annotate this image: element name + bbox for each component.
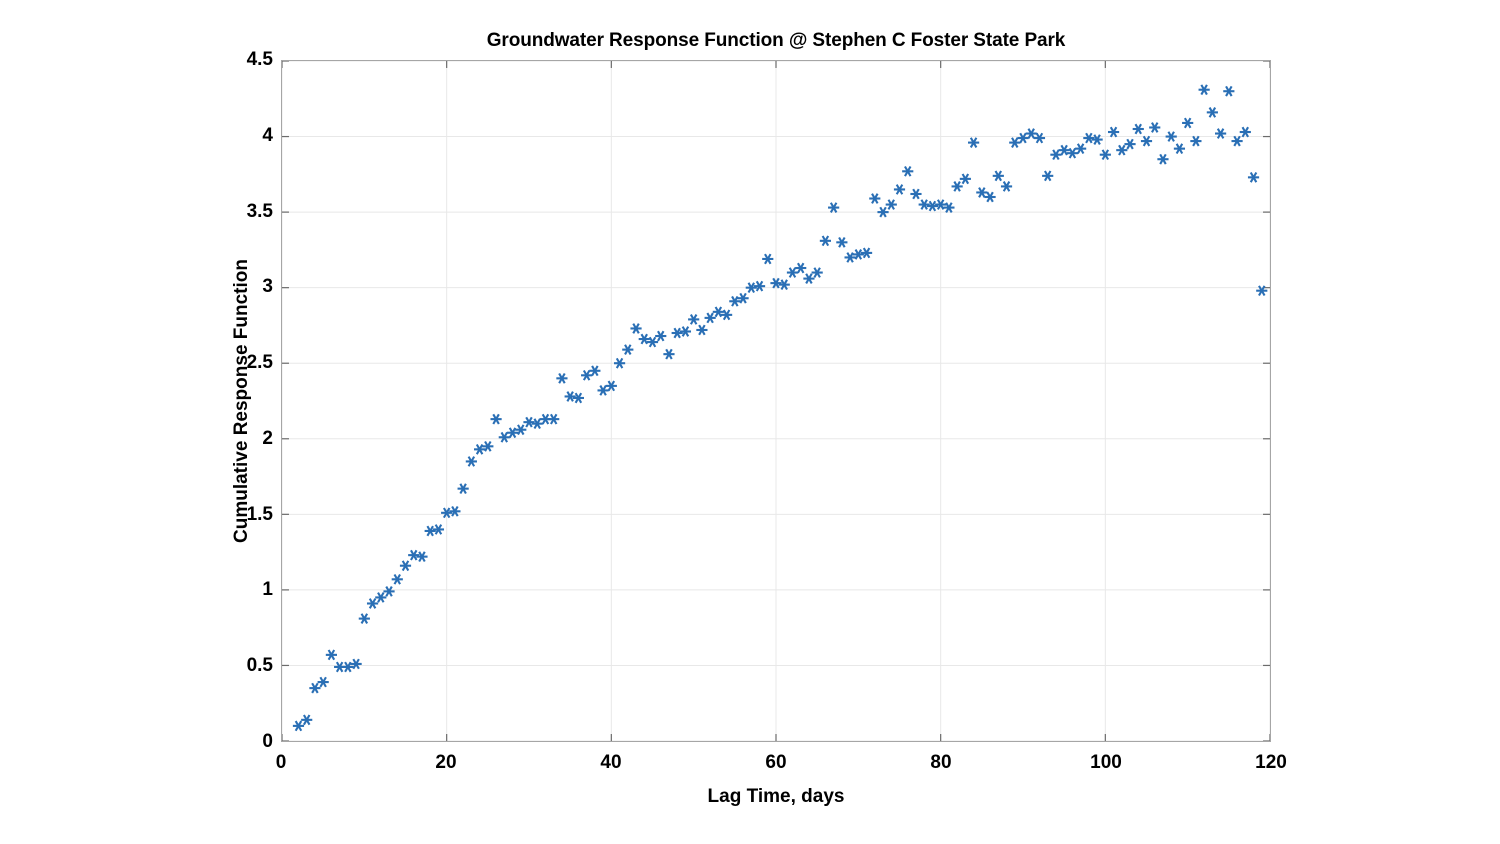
data-point	[1207, 108, 1218, 118]
data-point	[556, 373, 567, 383]
data-point	[672, 328, 683, 338]
data-point	[301, 715, 312, 725]
data-point	[1231, 136, 1242, 146]
x-tick-label: 0	[276, 752, 287, 774]
data-point	[960, 174, 971, 184]
data-point	[392, 574, 403, 584]
data-point	[1182, 118, 1193, 128]
data-point	[886, 200, 897, 210]
data-point	[1083, 133, 1094, 143]
data-point	[762, 254, 773, 264]
data-point	[1215, 129, 1226, 139]
page-title: Groundwater Response Function @ Stephen …	[281, 30, 1271, 52]
data-point	[754, 281, 765, 291]
data-point	[1042, 171, 1053, 181]
data-point	[894, 185, 905, 195]
x-tick-label: 40	[600, 752, 621, 774]
data-point	[490, 414, 501, 424]
data-point	[606, 381, 617, 391]
data-point	[309, 683, 320, 693]
data-point	[408, 550, 419, 560]
data-point	[1149, 123, 1160, 133]
x-tick-label: 20	[435, 752, 456, 774]
y-axis-title: Cumulative Response Function	[231, 259, 253, 543]
data-point	[705, 313, 716, 323]
data-point	[812, 268, 823, 278]
data-point	[927, 201, 938, 211]
data-point	[400, 561, 411, 571]
y-tick-label: 0.5	[247, 655, 273, 677]
data-point	[573, 393, 584, 403]
y-tick-label: 1	[262, 579, 273, 601]
data-point	[383, 587, 394, 597]
data-point	[425, 526, 436, 536]
data-point	[655, 331, 666, 341]
data-point	[1190, 136, 1201, 146]
plot-area	[281, 60, 1271, 742]
data-point	[1223, 86, 1234, 96]
data-point	[499, 432, 510, 442]
data-point	[976, 188, 987, 198]
chart-page: Groundwater Response Function @ Stephen …	[0, 0, 1500, 844]
data-point	[523, 417, 534, 427]
data-point	[581, 370, 592, 380]
data-point	[1166, 132, 1177, 142]
data-point	[746, 283, 757, 293]
data-point	[1017, 133, 1028, 143]
scatter-series	[282, 61, 1270, 741]
data-point	[968, 138, 979, 148]
data-point	[952, 182, 963, 192]
data-point	[680, 327, 691, 337]
data-point	[919, 200, 930, 210]
x-tick-label: 60	[765, 752, 786, 774]
data-point	[663, 349, 674, 359]
data-point	[795, 263, 806, 273]
x-axis-tick-labels: 020406080100120	[281, 752, 1271, 778]
data-point	[548, 414, 559, 424]
data-point	[1009, 138, 1020, 148]
data-point	[1133, 124, 1144, 134]
data-point	[770, 278, 781, 288]
data-point	[779, 280, 790, 290]
data-point	[1092, 135, 1103, 145]
x-tick-label: 100	[1090, 752, 1122, 774]
data-point	[696, 325, 707, 335]
data-point	[1001, 182, 1012, 192]
data-point	[565, 392, 576, 402]
figure-canvas: Groundwater Response Function @ Stephen …	[0, 0, 1500, 844]
data-point	[375, 593, 386, 603]
data-point	[622, 345, 633, 355]
data-point	[359, 614, 370, 624]
data-point	[293, 721, 304, 731]
data-point	[787, 268, 798, 278]
data-point	[1199, 85, 1210, 95]
data-point	[441, 508, 452, 518]
y-tick-label: 0	[262, 731, 273, 753]
data-point	[614, 358, 625, 368]
y-tick-label: 3.5	[247, 201, 273, 223]
x-tick-label: 120	[1255, 752, 1287, 774]
y-tick-label: 2	[262, 428, 273, 450]
data-point	[416, 552, 427, 562]
data-point	[1034, 133, 1045, 143]
data-point	[993, 171, 1004, 181]
data-point	[433, 525, 444, 535]
data-point	[589, 366, 600, 376]
data-point	[1050, 150, 1061, 160]
data-point	[1116, 145, 1127, 155]
data-point	[458, 484, 469, 494]
data-point	[877, 207, 888, 217]
data-point	[820, 236, 831, 246]
x-axis-title: Lag Time, days	[281, 786, 1271, 808]
data-point	[1124, 139, 1135, 149]
data-point	[598, 386, 609, 396]
data-point	[630, 324, 641, 334]
data-point	[1256, 286, 1267, 296]
data-point	[1026, 129, 1037, 139]
data-point	[688, 315, 699, 325]
data-point	[449, 506, 460, 516]
data-point	[326, 650, 337, 660]
data-point	[532, 419, 543, 429]
data-point	[869, 194, 880, 204]
data-point	[1248, 173, 1259, 183]
data-point	[984, 192, 995, 202]
data-point	[1174, 144, 1185, 154]
data-point	[861, 248, 872, 258]
data-point	[1075, 144, 1086, 154]
data-point	[1240, 127, 1251, 137]
data-point	[318, 677, 329, 687]
y-tick-label: 4	[262, 125, 273, 147]
data-point	[1157, 154, 1168, 164]
y-tick-label: 4.5	[247, 49, 273, 71]
data-point	[836, 237, 847, 247]
data-point	[803, 274, 814, 284]
data-point	[466, 457, 477, 467]
data-point	[1141, 136, 1152, 146]
y-tick-label: 3	[262, 276, 273, 298]
data-point	[902, 166, 913, 176]
data-point	[910, 189, 921, 199]
data-point	[367, 599, 378, 609]
data-point	[828, 203, 839, 213]
data-point	[1100, 150, 1111, 160]
data-point	[1108, 127, 1119, 137]
x-tick-label: 80	[930, 752, 951, 774]
